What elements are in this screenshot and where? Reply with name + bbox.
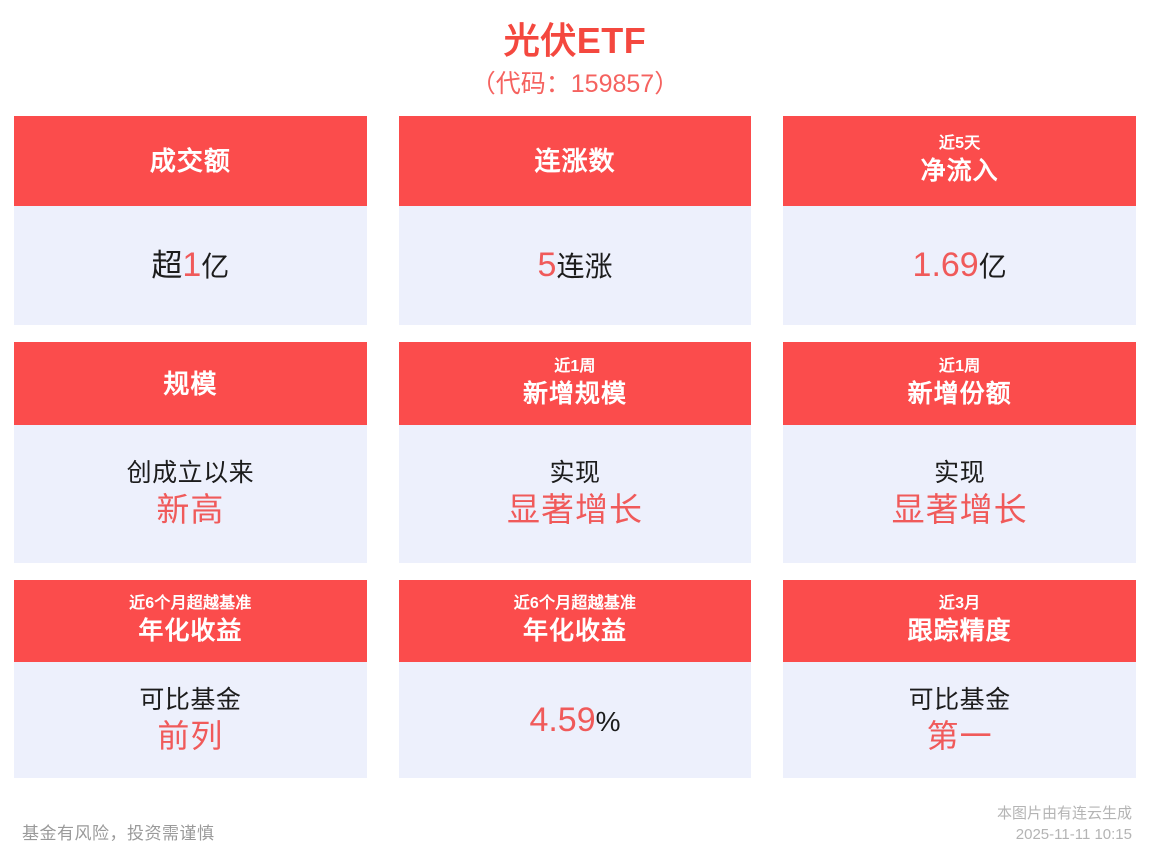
card-header-period: 近6个月超越基准 <box>129 594 252 615</box>
card-header-main: 连涨数 <box>534 144 615 178</box>
card-value-highlight: 显著增长 <box>507 489 643 531</box>
card-header-main: 年化收益 <box>523 615 627 648</box>
card-body: 创成立以来 新高 <box>14 425 367 563</box>
value-number: 1.69 <box>913 246 979 284</box>
card-header-main: 新增份额 <box>908 378 1012 411</box>
card-body: 实现 显著增长 <box>783 425 1136 563</box>
card-header-main: 跟踪精度 <box>908 615 1012 648</box>
card-header-period: 近1周 <box>554 357 596 378</box>
card-value-inline: 1.69亿 <box>913 245 1007 286</box>
card-header-main: 新增规模 <box>523 378 627 411</box>
card-header-main: 规模 <box>163 367 217 401</box>
card-body: 5连涨 <box>399 206 752 325</box>
card-value-highlight: 前列 <box>157 716 223 757</box>
value-prefix: 超 <box>151 248 182 283</box>
card-header-period: 近1周 <box>939 357 981 378</box>
value-unit: 亿 <box>979 251 1007 282</box>
credit-timestamp: 2025-11-11 10:15 <box>997 824 1132 846</box>
metric-card-net-inflow: 近5天 净流入 1.69亿 <box>783 116 1136 325</box>
card-value-highlight: 新高 <box>156 489 224 531</box>
card-header: 连涨数 <box>399 116 752 206</box>
card-body: 超1亿 <box>14 206 367 325</box>
card-header: 近1周 新增份额 <box>783 342 1136 425</box>
card-body: 4.59% <box>399 662 752 778</box>
card-value-caption: 实现 <box>549 457 600 489</box>
value-unit: 亿 <box>201 251 229 282</box>
metric-card-consecutive-gains: 连涨数 5连涨 <box>399 116 752 325</box>
value-unit: 连涨 <box>556 251 612 282</box>
card-header: 近5天 净流入 <box>783 116 1136 206</box>
card-body: 实现 显著增长 <box>399 425 752 563</box>
metric-card-fund-size: 规模 创成立以来 新高 <box>14 342 367 563</box>
page-title: 光伏ETF <box>0 18 1150 63</box>
value-number: 4.59 <box>529 701 595 739</box>
card-value-inline: 超1亿 <box>151 245 229 286</box>
metric-card-excess-return-rank: 近6个月超越基准 年化收益 可比基金 前列 <box>14 580 367 778</box>
card-body: 1.69亿 <box>783 206 1136 325</box>
card-value-highlight: 显著增长 <box>892 489 1028 531</box>
value-number: 1 <box>182 246 201 284</box>
card-value-inline: 5连涨 <box>538 245 613 286</box>
risk-disclaimer: 基金有风险，投资需谨慎 <box>22 821 215 847</box>
card-header-period: 近5天 <box>939 134 981 155</box>
card-value-inline: 4.59% <box>529 700 620 741</box>
title-block: 光伏ETF （代码：159857） <box>0 0 1150 100</box>
card-value-caption: 创成立以来 <box>127 457 255 489</box>
fund-code-subtitle: （代码：159857） <box>0 69 1150 100</box>
metric-card-turnover: 成交额 超1亿 <box>14 116 367 325</box>
value-unit: % <box>596 706 621 737</box>
metric-card-size-growth-1w: 近1周 新增规模 实现 显著增长 <box>399 342 752 563</box>
metric-card-grid: 成交额 超1亿 连涨数 5连涨 近5天 净流入 1.69亿 <box>14 116 1136 778</box>
card-header: 规模 <box>14 342 367 425</box>
card-value-caption: 可比基金 <box>139 684 241 716</box>
metric-card-excess-return-value: 近6个月超越基准 年化收益 4.59% <box>399 580 752 778</box>
metric-card-tracking-accuracy: 近3月 跟踪精度 可比基金 第一 <box>783 580 1136 778</box>
etf-infographic-page: 光伏ETF （代码：159857） 成交额 超1亿 连涨数 5连涨 近5天 <box>0 0 1150 860</box>
metric-card-share-growth-1w: 近1周 新增份额 实现 显著增长 <box>783 342 1136 563</box>
card-body: 可比基金 第一 <box>783 662 1136 778</box>
card-value-caption: 实现 <box>934 457 985 489</box>
card-header: 近3月 跟踪精度 <box>783 580 1136 662</box>
footer: 基金有风险，投资需谨慎 本图片由有连云生成 2025-11-11 10:15 <box>0 792 1150 860</box>
card-header-period: 近3月 <box>939 594 981 615</box>
card-value-caption: 可比基金 <box>909 684 1011 716</box>
card-body: 可比基金 前列 <box>14 662 367 778</box>
card-header: 近1周 新增规模 <box>399 342 752 425</box>
credit-source: 本图片由有连云生成 <box>997 803 1132 825</box>
card-value-highlight: 第一 <box>927 716 993 757</box>
card-header-period: 近6个月超越基准 <box>514 594 637 615</box>
value-number: 5 <box>538 246 557 284</box>
card-header: 近6个月超越基准 年化收益 <box>14 580 367 662</box>
card-header: 近6个月超越基准 年化收益 <box>399 580 752 662</box>
card-header-main: 净流入 <box>921 155 999 188</box>
card-header-main: 成交额 <box>150 144 231 178</box>
generation-credit: 本图片由有连云生成 2025-11-11 10:15 <box>997 803 1132 847</box>
card-header-main: 年化收益 <box>138 615 242 648</box>
card-header: 成交额 <box>14 116 367 206</box>
